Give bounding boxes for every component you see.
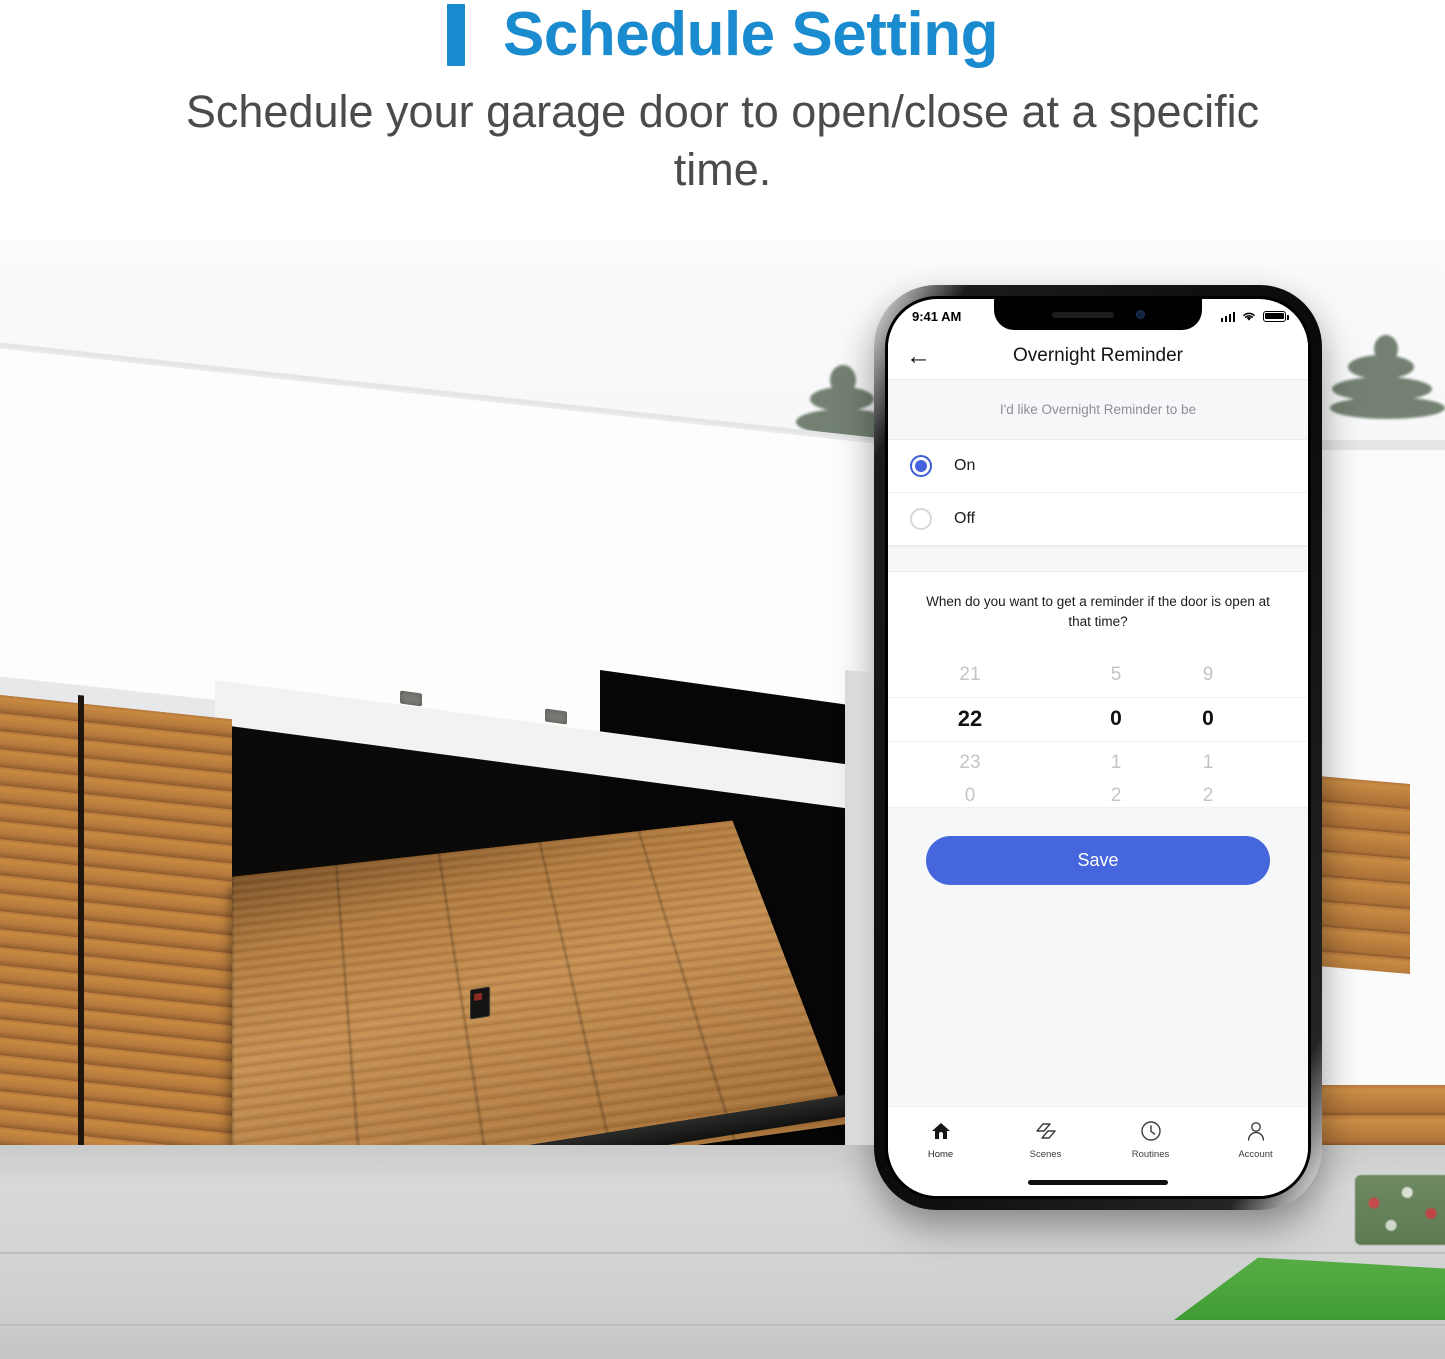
picker-line-top	[888, 697, 1308, 698]
phone-bezel: 9:41 AM ← Overnight Reminder I'd like Ov…	[885, 296, 1311, 1199]
tab-label-scenes: Scenes	[1030, 1149, 1062, 1160]
save-area: Save	[888, 807, 1308, 1106]
tree-right	[1330, 335, 1445, 440]
radio-off-icon[interactable]	[910, 508, 932, 530]
option-row-off[interactable]: Off	[888, 493, 1308, 546]
hour-below[interactable]: 23	[906, 741, 1034, 785]
hour-above[interactable]: 21	[906, 653, 1034, 697]
garage-door-lock	[470, 986, 490, 1019]
page-subtitle: Schedule your garage door to open/close …	[0, 83, 1445, 198]
picker-line-bottom	[888, 741, 1308, 742]
picker-question: When do you want to get a reminder if th…	[906, 592, 1290, 631]
tab-account[interactable]: Account	[1203, 1119, 1308, 1196]
flower-bed	[1355, 1175, 1445, 1245]
page-title: Schedule Setting	[503, 2, 998, 67]
option-label-off: Off	[954, 510, 975, 528]
hour-selected[interactable]: 22	[906, 697, 1034, 741]
time-picker-card: When do you want to get a reminder if th…	[888, 572, 1308, 807]
status-icons	[1221, 310, 1287, 322]
app-navbar: ← Overnight Reminder	[888, 333, 1308, 379]
clock-icon	[1140, 1119, 1162, 1143]
home-icon	[930, 1119, 952, 1143]
hour-below2[interactable]: 0	[906, 785, 1034, 807]
min-tens-above[interactable]: 5	[1070, 653, 1162, 697]
title-accent-bar	[447, 4, 465, 66]
screen-title: Overnight Reminder	[888, 345, 1308, 367]
picker-column-minutes-tens[interactable]: 5 0 1 2	[1070, 653, 1162, 807]
tab-label-routines: Routines	[1132, 1149, 1170, 1160]
driveway-seam-2	[0, 1324, 1445, 1326]
signal-bars-icon	[1221, 311, 1236, 322]
section-divider	[888, 546, 1308, 572]
min-ones-below[interactable]: 1	[1162, 741, 1254, 785]
time-picker[interactable]: 21 22 23 0 5 0 1 2 9 0 1 2	[906, 653, 1290, 801]
section-label: I'd like Overnight Reminder to be	[888, 379, 1308, 440]
title-row: Schedule Setting	[0, 0, 1445, 67]
driveway-seam-1	[0, 1252, 1445, 1254]
picker-column-hours[interactable]: 21 22 23 0	[906, 653, 1034, 807]
phone-screen: 9:41 AM ← Overnight Reminder I'd like Ov…	[888, 299, 1308, 1196]
battery-icon	[1263, 311, 1286, 322]
tab-home[interactable]: Home	[888, 1119, 993, 1196]
radio-on-icon[interactable]	[910, 455, 932, 477]
option-label-on: On	[954, 457, 975, 475]
home-indicator	[1028, 1180, 1168, 1185]
min-ones-selected[interactable]: 0	[1162, 697, 1254, 741]
earpiece-speaker	[1052, 312, 1114, 318]
status-time: 9:41 AM	[912, 309, 961, 324]
option-row-on[interactable]: On	[888, 440, 1308, 493]
tab-label-home: Home	[928, 1149, 953, 1160]
min-ones-above[interactable]: 9	[1162, 653, 1254, 697]
phone-notch	[994, 299, 1202, 330]
save-button[interactable]: Save	[926, 836, 1270, 885]
person-icon	[1245, 1119, 1267, 1143]
phone-mockup: 9:41 AM ← Overnight Reminder I'd like Ov…	[874, 285, 1322, 1210]
scenes-icon	[1034, 1119, 1058, 1143]
min-ones-below2[interactable]: 2	[1162, 785, 1254, 807]
right-wood-panel-upper	[1318, 776, 1410, 974]
back-arrow-icon[interactable]: ←	[906, 344, 940, 369]
downlight-1	[400, 691, 422, 707]
min-tens-below[interactable]: 1	[1070, 741, 1162, 785]
downlight-2	[545, 709, 567, 725]
wifi-icon	[1241, 310, 1257, 322]
min-tens-selected[interactable]: 0	[1070, 697, 1162, 741]
min-tens-below2[interactable]: 2	[1070, 785, 1162, 807]
picker-column-minutes-ones[interactable]: 9 0 1 2	[1162, 653, 1254, 807]
tab-label-account: Account	[1238, 1149, 1272, 1160]
front-camera	[1136, 310, 1145, 319]
page-header: Schedule Setting Schedule your garage do…	[0, 0, 1445, 240]
